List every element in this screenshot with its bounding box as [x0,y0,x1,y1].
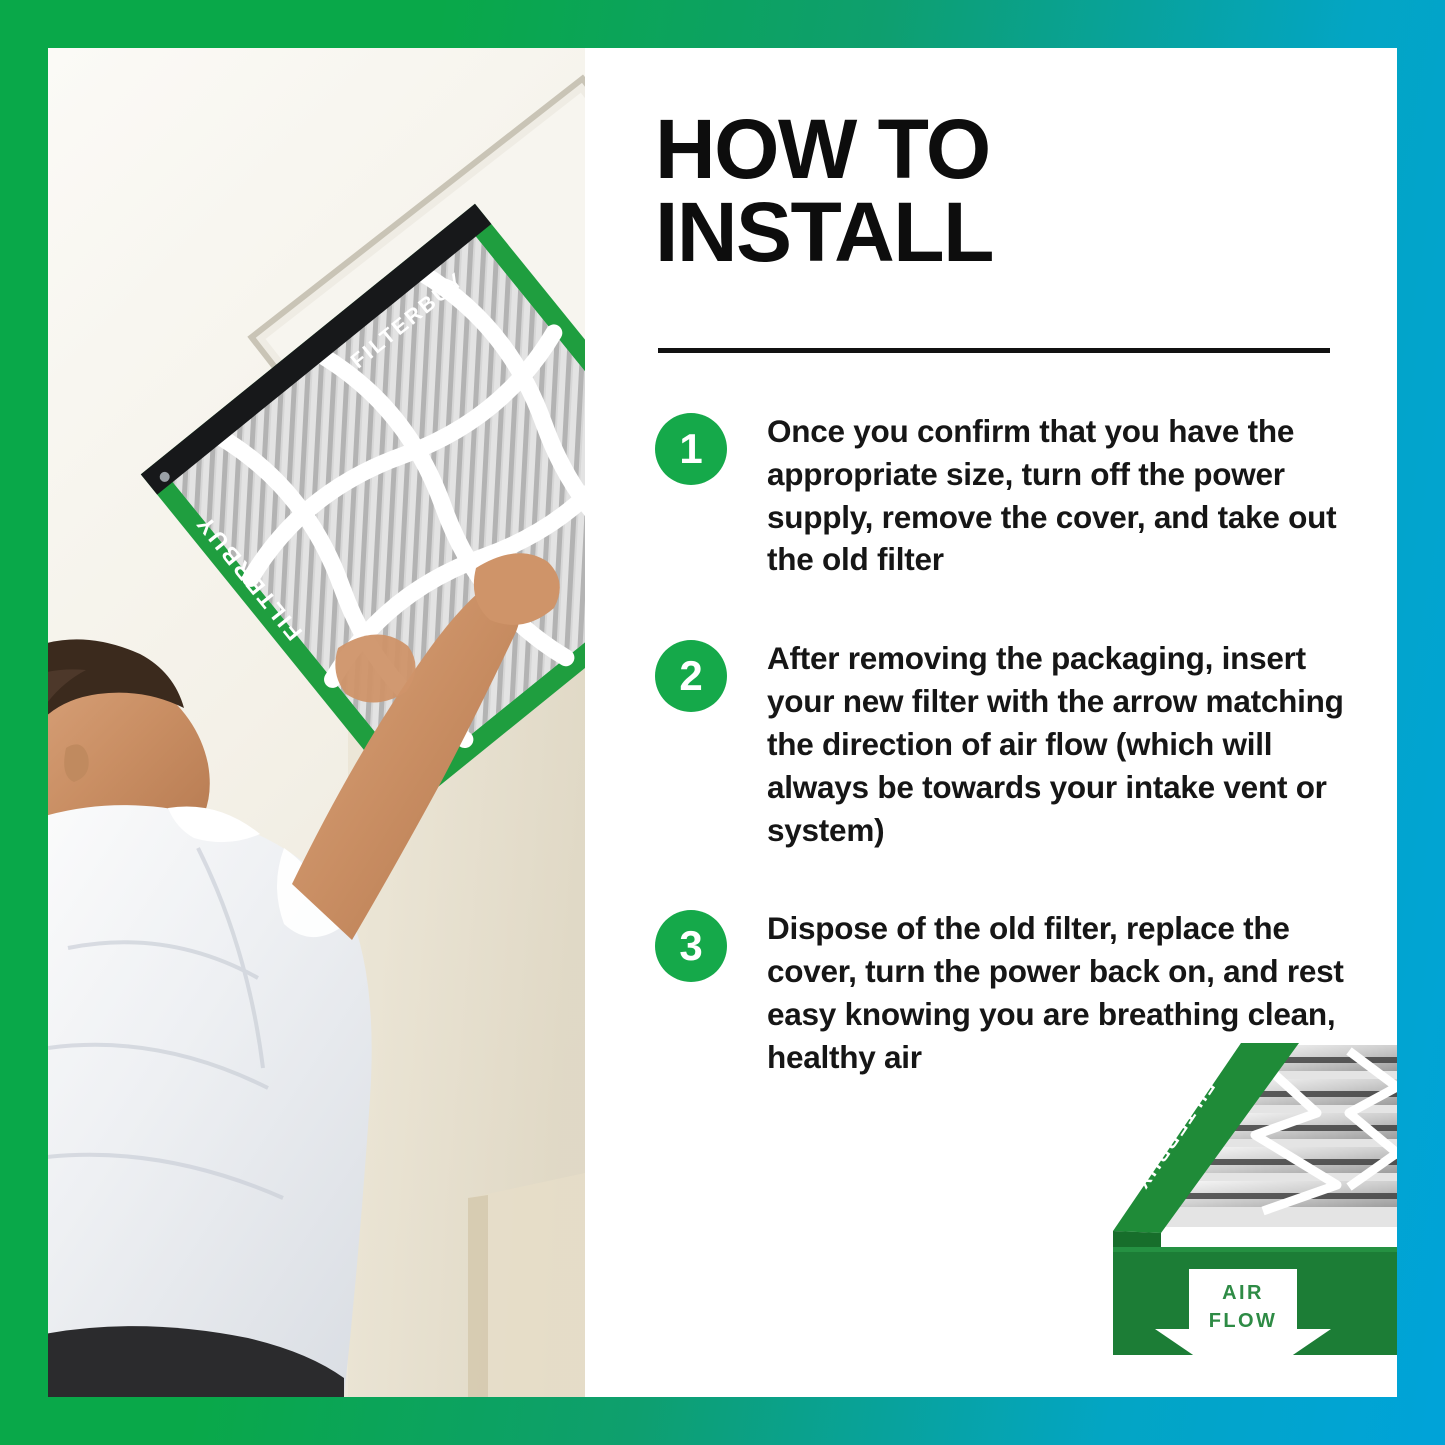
installation-photo-illustration: FILTERBUY FILTERBUY [48,48,585,1397]
page-title-line-1: HOW TO [655,108,1345,191]
installation-photo: FILTERBUY FILTERBUY [48,48,585,1397]
list-item: 2 After removing the packaging, insert y… [655,637,1355,851]
product-filter-image: FILTERBUY AIR FLOW [1049,1035,1397,1355]
title-divider [658,348,1330,353]
steps-list: 1 Once you confirm that you have the app… [655,410,1355,1135]
page-title: HOW TO INSTALL [655,108,1345,274]
step-number-badge-3: 3 [655,910,727,982]
list-item: 1 Once you confirm that you have the app… [655,410,1355,581]
airflow-label-line-1: AIR [1222,1282,1264,1304]
poster-frame: FILTERBUY FILTERBUY [0,0,1445,1445]
white-content-panel: FILTERBUY FILTERBUY [48,48,1397,1397]
step-number-badge-2: 2 [655,640,727,712]
step-number-badge-1: 1 [655,413,727,485]
airflow-label-line-2: FLOW [1209,1310,1277,1332]
page-title-line-2: INSTALL [655,191,1345,274]
step-text-1: Once you confirm that you have the appro… [767,410,1355,581]
product-filter-illustration: FILTERBUY AIR FLOW [1049,1035,1397,1355]
step-text-2: After removing the packaging, insert you… [767,637,1355,851]
